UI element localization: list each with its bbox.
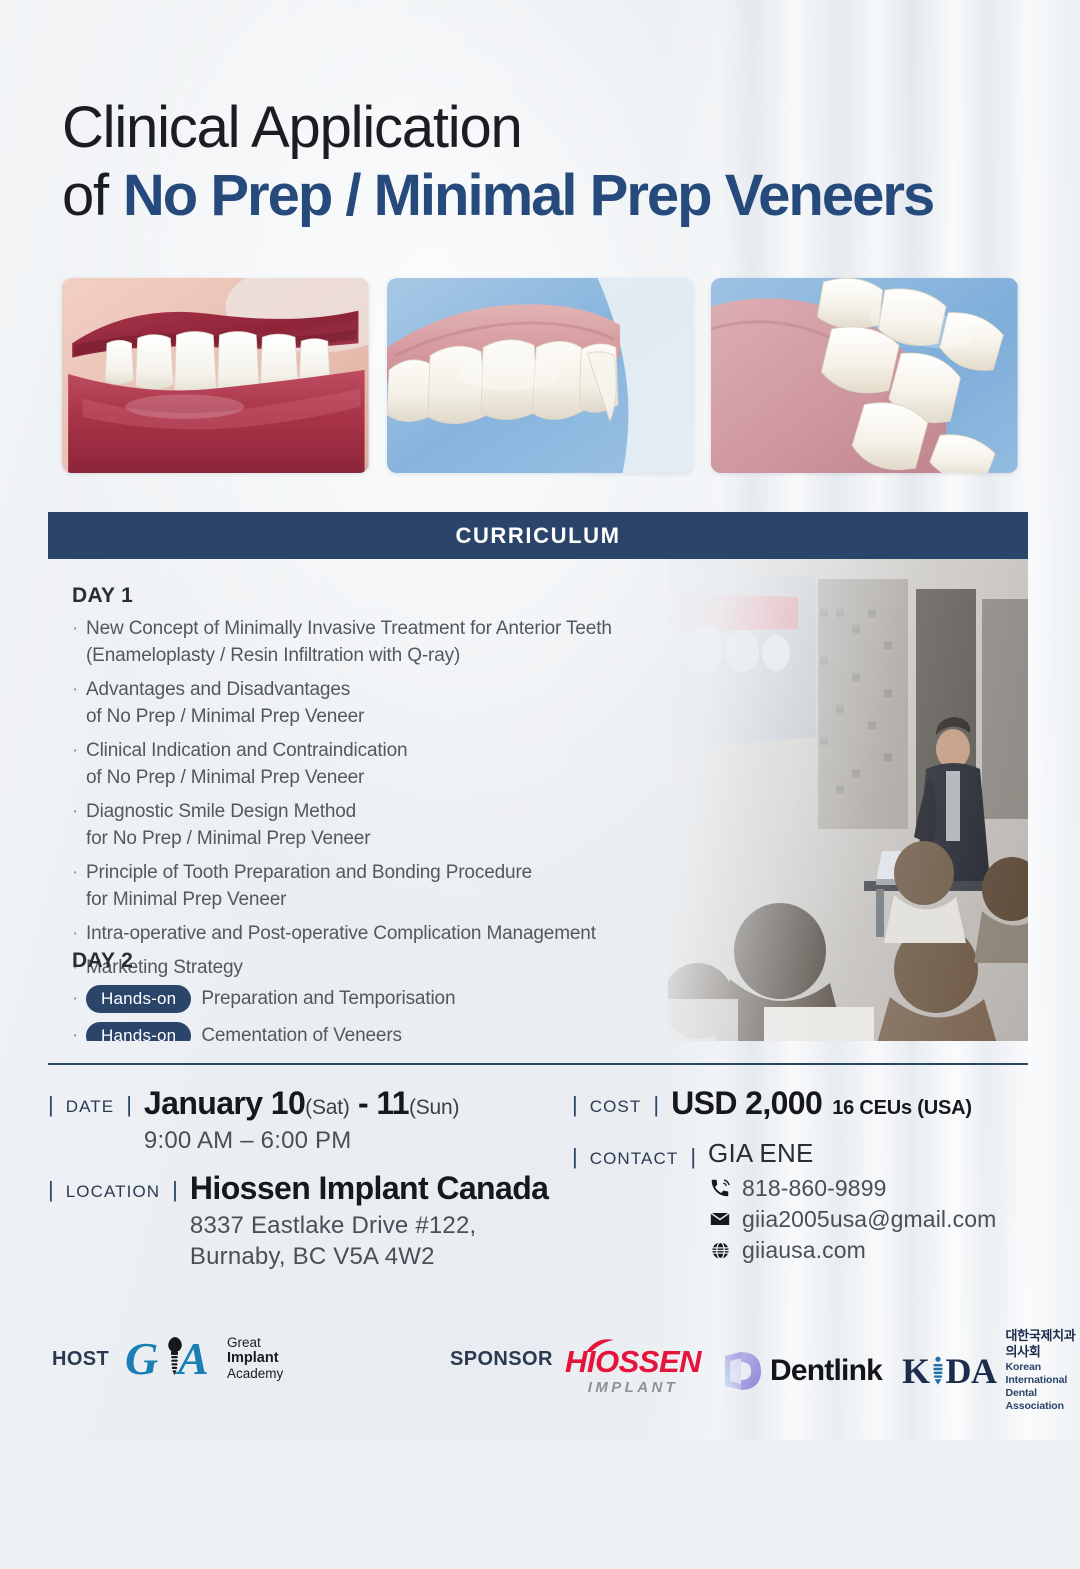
contact-website-line[interactable]: giiausa.com xyxy=(708,1237,996,1264)
bullet-text: New Concept of Minimally Invasive Treatm… xyxy=(86,615,612,669)
kida-korean-text: 대한국제치과의사회 xyxy=(1006,1328,1080,1361)
bullet-text: Cementation of Veneers xyxy=(201,1025,402,1041)
title-line-1: Clinical Application xyxy=(62,96,933,161)
hiossen-logo: HIOSSEN IMPLANT xyxy=(565,1346,701,1395)
contact-value: GIA ENE 818-860-9899 xyxy=(696,1137,996,1264)
curriculum-header-label: CURRICULUM xyxy=(455,523,620,549)
smile-closeup-photo xyxy=(62,278,369,473)
bullet-dot-icon: · xyxy=(72,676,86,703)
info-divider xyxy=(48,1063,1028,1065)
sponsor-label: SPONSOR xyxy=(450,1348,553,1371)
contact-email-line[interactable]: giia2005usa@gmail.com xyxy=(708,1206,996,1233)
location-value: Hiossen Implant Canada 8337 Eastlake Dri… xyxy=(178,1170,548,1272)
info-right-column: | COST | USD 2,00016 CEUs (USA) | CONTAC… xyxy=(572,1085,1042,1272)
location-key-label: LOCATION xyxy=(54,1182,172,1202)
date-value: January 10(Sat) - 11(Sun) 9:00 AM – 6:00… xyxy=(132,1085,459,1156)
kida-word-a: K xyxy=(902,1350,930,1392)
gia-wordmark: Great Implant Academy xyxy=(227,1335,283,1381)
contact-website-text: giiausa.com xyxy=(742,1237,866,1264)
cost-row: | COST | USD 2,00016 CEUs (USA) xyxy=(572,1085,1042,1123)
list-item: · Intra-operative and Post-operative Com… xyxy=(72,920,612,947)
list-item: · Diagnostic Smile Design Method for No … xyxy=(72,798,612,852)
phone-icon xyxy=(708,1176,732,1200)
status-badge: Hands-on xyxy=(86,985,191,1014)
info-left-column: | DATE | January 10(Sat) - 11(Sun) 9:00 … xyxy=(48,1085,568,1280)
dentlink-wordmark: Dentlink xyxy=(770,1354,882,1388)
title-prefix: of xyxy=(62,163,123,228)
day-2-bullet-list: · Hands-on Preparation and Temporisation… xyxy=(72,983,455,1041)
page-title: Clinical Application of No Prep / Minima… xyxy=(62,96,933,231)
hiossen-swoosh-icon xyxy=(585,1339,615,1353)
cost-value: USD 2,00016 CEUs (USA) xyxy=(659,1085,972,1123)
contact-row: | CONTACT | GIA ENE 818-860-9899 xyxy=(572,1137,1042,1264)
lecture-photo-fade-overlay xyxy=(668,559,1028,1041)
curriculum-header-bar: CURRICULUM xyxy=(48,512,1028,559)
location-address: 8337 Eastlake Drive #122, Burnaby, BC V5… xyxy=(190,1210,548,1272)
dentlink-logo: Dentlink xyxy=(721,1350,882,1392)
title-line-2: of No Prep / Minimal Prep Veneers xyxy=(62,161,933,231)
svg-text:G: G xyxy=(126,1333,158,1384)
dentlink-mark-icon xyxy=(721,1350,763,1392)
bullet-dot-icon: · xyxy=(72,1020,86,1041)
globe-icon xyxy=(708,1238,732,1262)
cost-key-label: COST xyxy=(578,1097,654,1117)
kida-implant-icon xyxy=(931,1356,945,1386)
bullet-text: Principle of Tooth Preparation and Bondi… xyxy=(86,859,532,913)
location-key: | LOCATION | xyxy=(48,1170,178,1202)
palatal-veneer-photo xyxy=(711,278,1018,473)
bullet-text: Preparation and Temporisation xyxy=(201,988,455,1010)
contact-phone-line[interactable]: 818-860-9899 xyxy=(708,1175,996,1202)
kida-wordmark: K DA xyxy=(902,1350,997,1392)
cost-key: | COST | xyxy=(572,1085,659,1117)
kida-english-line1: Korean International xyxy=(1006,1361,1080,1387)
kida-logo: K DA 대한국제치과의사회 Korean International xyxy=(902,1328,1080,1413)
list-item: · Hands-on Preparation and Temporisation xyxy=(72,983,455,1015)
date-key-label: DATE xyxy=(54,1097,126,1117)
cost-amount: USD 2,000 xyxy=(671,1085,822,1121)
day-1-heading: DAY 1 xyxy=(72,584,133,608)
footer: HOST G A Great xyxy=(0,1320,1080,1410)
date-day2-suffix: (Sun) xyxy=(409,1096,459,1119)
list-item: · Principle of Tooth Preparation and Bon… xyxy=(72,859,612,913)
cost-ceu-note: 16 CEUs (USA) xyxy=(832,1097,972,1119)
bullet-text: Intra-operative and Post-operative Compl… xyxy=(86,920,596,947)
bullet-dot-icon: · xyxy=(72,798,86,825)
bullet-text: Advantages and Disadvantages of No Prep … xyxy=(86,676,364,730)
day-2-heading: DAY 2 xyxy=(72,949,133,973)
curriculum-body: DAY 1 · New Concept of Minimally Invasiv… xyxy=(48,559,1028,1041)
date-dash: - xyxy=(350,1085,377,1121)
list-item: · Advantages and Disadvantages of No Pre… xyxy=(72,676,612,730)
lateral-veneer-photo xyxy=(387,278,694,473)
date-main: January 10(Sat) - 11(Sun) xyxy=(144,1085,459,1123)
bullet-text: Diagnostic Smile Design Method for No Pr… xyxy=(86,798,370,852)
hiossen-wordmark: HIOSSEN xyxy=(565,1346,701,1377)
bullet-dot-icon: · xyxy=(72,737,86,764)
day-1-bullet-list: · New Concept of Minimally Invasive Trea… xyxy=(72,615,612,988)
status-badge: Hands-on xyxy=(86,1022,191,1041)
kida-word-b: DA xyxy=(946,1350,997,1392)
contact-email-text: giia2005usa@gmail.com xyxy=(742,1206,996,1233)
contact-org: GIA ENE xyxy=(708,1137,996,1171)
gia-word-line2: Implant xyxy=(227,1350,283,1366)
list-item: · Marketing Strategy xyxy=(72,954,612,981)
cost-main: USD 2,00016 CEUs (USA) xyxy=(671,1085,972,1123)
gia-word-line3: Academy xyxy=(227,1366,283,1381)
location-venue: Hiossen Implant Canada xyxy=(190,1170,548,1208)
date-key: | DATE | xyxy=(48,1085,132,1117)
kida-english-line2: Dental Association xyxy=(1006,1387,1080,1413)
hero-photo-strip xyxy=(62,278,1018,473)
gia-word-line1: Great xyxy=(227,1335,283,1350)
bullet-dot-icon: · xyxy=(72,859,86,886)
bullet-dot-icon: · xyxy=(72,920,86,947)
gia-logo: G A Great Implant Academy xyxy=(126,1332,283,1384)
gia-mark-icon: G A xyxy=(126,1332,220,1384)
date-month-day: January 10 xyxy=(144,1085,305,1121)
contact-phone-text: 818-860-9899 xyxy=(742,1175,886,1202)
bullet-dot-icon: · xyxy=(72,615,86,642)
bullet-dot-icon: · xyxy=(72,983,86,1015)
date-row: | DATE | January 10(Sat) - 11(Sun) 9:00 … xyxy=(48,1085,568,1156)
host-label: HOST xyxy=(52,1348,109,1371)
contact-key: | CONTACT | xyxy=(572,1137,696,1169)
location-row: | LOCATION | Hiossen Implant Canada 8337… xyxy=(48,1170,568,1272)
hiossen-subtext: IMPLANT xyxy=(565,1380,701,1395)
list-item: · Clinical Indication and Contraindicati… xyxy=(72,737,612,791)
contact-key-label: CONTACT xyxy=(578,1149,691,1169)
poster-page: Clinical Application of No Prep / Minima… xyxy=(0,0,1080,1440)
date-time: 9:00 AM – 6:00 PM xyxy=(144,1125,459,1156)
list-item: · Hands-on Cementation of Veneers xyxy=(72,1020,455,1041)
sponsor-logo-group: HIOSSEN IMPLANT xyxy=(565,1328,1080,1413)
bullet-text: Clinical Indication and Contraindication… xyxy=(86,737,407,791)
title-accent: No Prep / Minimal Prep Veneers xyxy=(123,163,933,228)
date-day1-suffix: (Sat) xyxy=(305,1096,350,1119)
envelope-icon xyxy=(708,1207,732,1231)
kida-subtext: 대한국제치과의사회 Korean International Dental As… xyxy=(1006,1328,1080,1413)
list-item: · New Concept of Minimally Invasive Trea… xyxy=(72,615,612,669)
date-day2: 11 xyxy=(376,1085,409,1121)
